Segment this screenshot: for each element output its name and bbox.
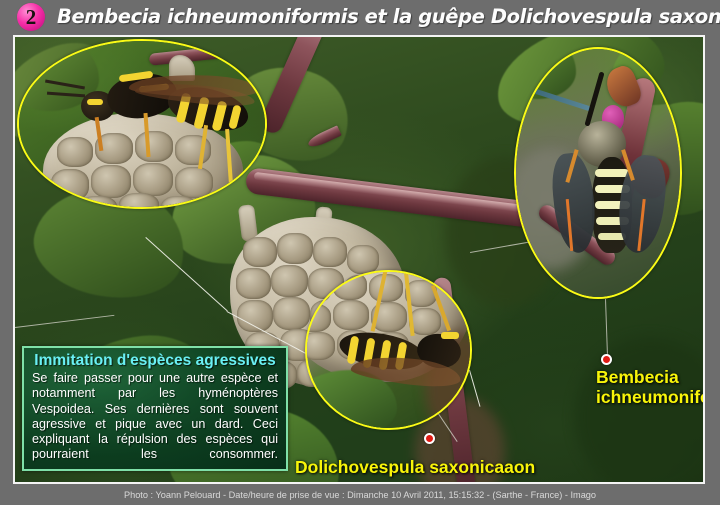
nest-cell: [236, 268, 271, 299]
callout-bembecia: Bembecia ichneumoniformis: [596, 367, 703, 407]
inset-photo-content: [307, 272, 470, 428]
nest-cell: [277, 233, 313, 264]
nest-cell: [313, 237, 347, 267]
nest-cell: [273, 297, 310, 330]
inset-photo-content: [19, 41, 265, 207]
info-box: Immitation d'espèces agressives Se faire…: [22, 346, 288, 471]
inset-bembecia-moth-closeup: [514, 47, 682, 299]
inset-photo-content: [516, 49, 680, 297]
inset-nest-cell: [333, 300, 369, 330]
inset-nest-cell: [305, 276, 331, 303]
inset-nest-cell: [305, 332, 335, 360]
inset-nest-cell: [305, 304, 331, 332]
inset-wasp-face-mark: [87, 99, 103, 105]
inset-nest-cell: [333, 272, 367, 300]
inset-wasp-on-nest-closeup: [17, 39, 267, 209]
callout-bembecia-line-2: ichneumoniformis: [596, 387, 703, 407]
inset-wasp-stripe: [441, 332, 459, 339]
nest-cell: [347, 245, 379, 274]
inset-nest-cell: [135, 131, 173, 162]
inset-nest-cell: [57, 137, 93, 167]
poster-page: 2 Bembecia ichneumoniformis et la guêpe …: [0, 0, 720, 505]
inset-nest-cell: [133, 163, 173, 196]
info-box-title: Immitation d'espèces agressives: [30, 351, 280, 370]
page-title: Bembecia ichneumoniformis et la guêpe Do…: [57, 1, 712, 32]
inset-nest-cell: [91, 165, 131, 198]
info-box-body: Se faire passer pour une autre espèce et…: [30, 370, 280, 463]
marker-dolichovespula: [424, 433, 435, 444]
nest-cell: [243, 237, 277, 267]
inset-nest-cell: [119, 193, 159, 209]
inset-wasp-underside-closeup: [305, 270, 472, 430]
marker-bembecia: [601, 354, 612, 365]
photo-credit: Photo : Yoann Pelouard - Date/heure de p…: [0, 486, 720, 505]
inset-nest-cell: [175, 167, 213, 198]
inset-nest-cell: [51, 169, 89, 201]
nest-cell: [271, 265, 308, 297]
header-bar: 2 Bembecia ichneumoniformis et la guêpe …: [0, 0, 720, 33]
callout-bembecia-line-1: Bembecia: [596, 367, 703, 387]
slide-number-label: 2: [17, 3, 45, 31]
callout-dolichovespula-line: Dolichovespula saxonicaaon: [295, 457, 535, 477]
inset-nest-cell: [369, 274, 403, 302]
callout-dolichovespula: Dolichovespula saxonicaaon: [295, 457, 535, 477]
inset-stem: [149, 40, 267, 66]
inset-moth-abdomen-band: [595, 169, 629, 177]
slide-number-badge: 2: [17, 3, 45, 31]
